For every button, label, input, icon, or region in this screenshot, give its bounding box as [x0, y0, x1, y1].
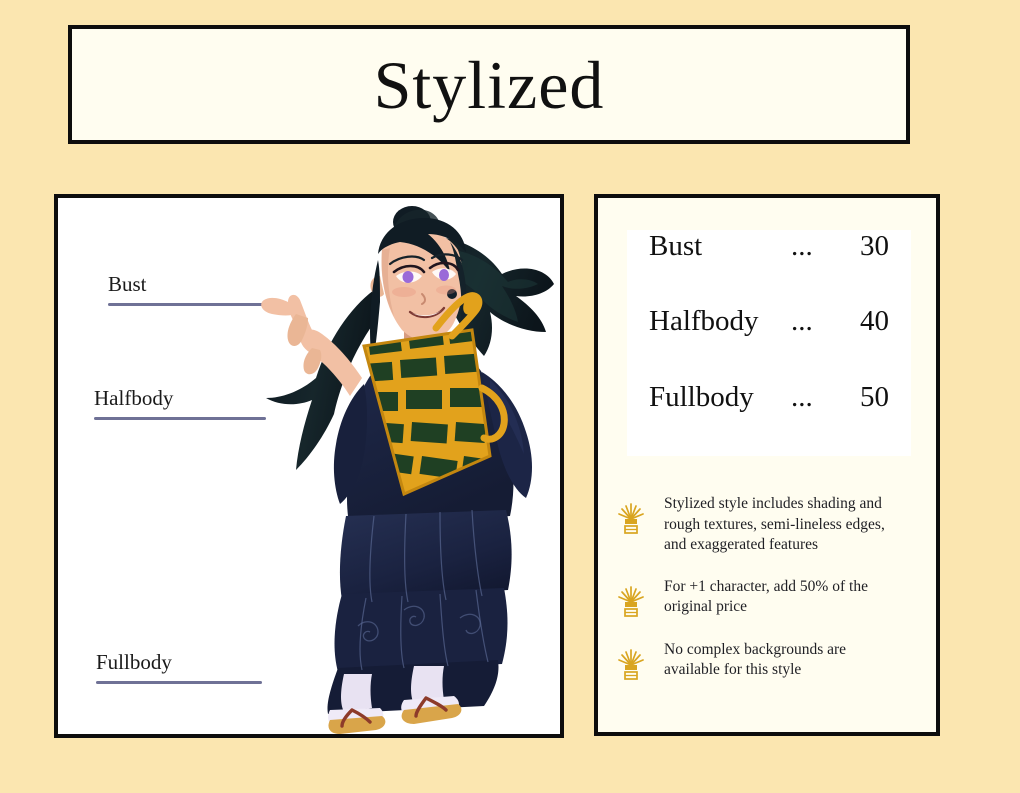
note-text: Stylized style includes shading and roug… — [664, 494, 900, 556]
price-value-fullbody: 50 — [839, 381, 889, 414]
note-item: For +1 character, add 50% of the origina… — [616, 577, 926, 619]
gold-broom-icon — [616, 583, 646, 619]
tier-marker-halfbody: Halfbody — [94, 386, 266, 420]
note-item: Stylized style includes shading and roug… — [616, 494, 926, 556]
note-text: No complex backgrounds are available for… — [664, 640, 900, 681]
tier-label-bust: Bust — [108, 272, 274, 297]
note-item: No complex backgrounds are available for… — [616, 640, 926, 682]
tier-label-fullbody: Fullbody — [96, 650, 262, 675]
price-name-fullbody: Fullbody — [649, 381, 791, 414]
price-row-bust: Bust ... 30 — [649, 230, 889, 305]
price-name-bust: Bust — [649, 230, 791, 263]
tier-rule-halfbody — [94, 417, 266, 420]
title-banner: Stylized — [68, 25, 910, 144]
gold-broom-icon — [616, 646, 646, 682]
note-text: For +1 character, add 50% of the origina… — [664, 577, 900, 618]
price-separator-bust: ... — [791, 230, 839, 263]
tier-marker-fullbody: Fullbody — [96, 650, 262, 684]
gold-broom-icon — [616, 500, 646, 536]
tier-rule-bust — [108, 303, 274, 306]
price-separator-halfbody: ... — [791, 305, 839, 338]
tier-marker-bust: Bust — [108, 272, 274, 306]
price-row-halfbody: Halfbody ... 40 — [649, 305, 889, 380]
price-separator-fullbody: ... — [791, 381, 839, 414]
price-list: Bust ... 30 Halfbody ... 40 Fullbody ...… — [627, 230, 911, 456]
price-row-fullbody: Fullbody ... 50 — [649, 381, 889, 456]
price-value-bust: 30 — [839, 230, 889, 263]
stylized-character-illustration — [254, 198, 554, 734]
notes-list: Stylized style includes shading and roug… — [616, 494, 926, 703]
tier-rule-fullbody — [96, 681, 262, 684]
price-name-halfbody: Halfbody — [649, 305, 791, 338]
info-panel: Bust ... 30 Halfbody ... 40 Fullbody ...… — [594, 194, 940, 736]
price-value-halfbody: 40 — [839, 305, 889, 338]
tier-label-halfbody: Halfbody — [94, 386, 266, 411]
illustration-panel: Bust Halfbody Fullbody — [54, 194, 564, 738]
page-title: Stylized — [374, 51, 605, 119]
